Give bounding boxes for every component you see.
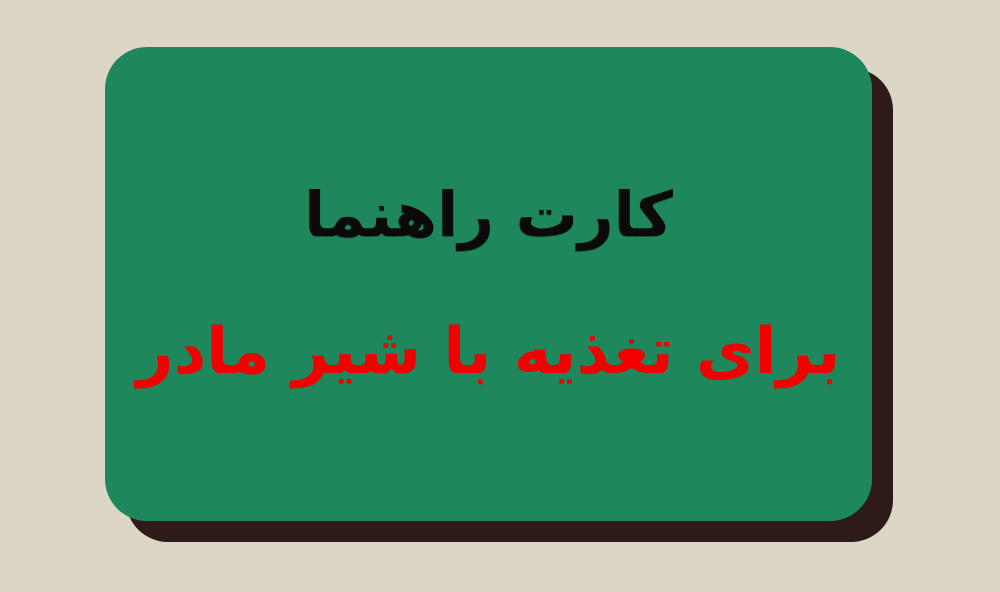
card-body: کارت راهنما برای تغذیه با شیر مادر [123, 178, 854, 391]
card-title: کارت راهنما [123, 178, 854, 251]
page-background: کارت راهنما برای تغذیه با شیر مادر [0, 0, 1000, 592]
card-subtitle: برای تغذیه با شیر مادر [123, 315, 854, 391]
title-subtitle-spacer [123, 251, 854, 315]
guidance-card: کارت راهنما برای تغذیه با شیر مادر [105, 47, 872, 521]
